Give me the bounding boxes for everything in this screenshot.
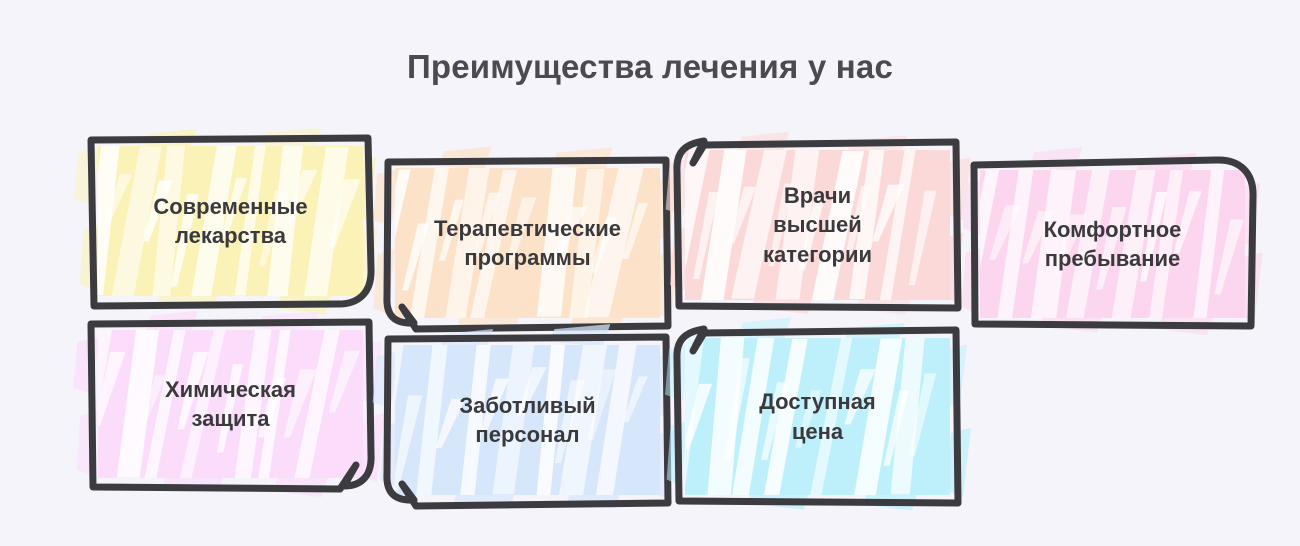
benefit-card[interactable]: Заботливый персонал (395, 345, 660, 495)
card-graphic (395, 168, 660, 318)
card-graphic (685, 150, 950, 300)
card-graphic (98, 330, 363, 478)
benefit-card[interactable]: Комфортное пребывание (980, 170, 1245, 318)
card-graphic (395, 345, 660, 495)
benefit-card[interactable]: Терапевтические программы (395, 168, 660, 318)
card-graphic (980, 170, 1245, 318)
page-title: Преимущества лечения у нас (0, 48, 1300, 86)
card-graphic (685, 338, 950, 495)
benefits-infographic: Преимущества лечения у нас Современные л… (0, 0, 1300, 546)
benefit-card[interactable]: Химическая защита (98, 330, 363, 478)
benefit-card[interactable]: Доступная цена (685, 338, 950, 495)
benefit-card[interactable]: Современные лекарства (98, 146, 363, 296)
card-graphic (98, 146, 363, 296)
benefit-card[interactable]: Врачи высшей категории (685, 150, 950, 300)
